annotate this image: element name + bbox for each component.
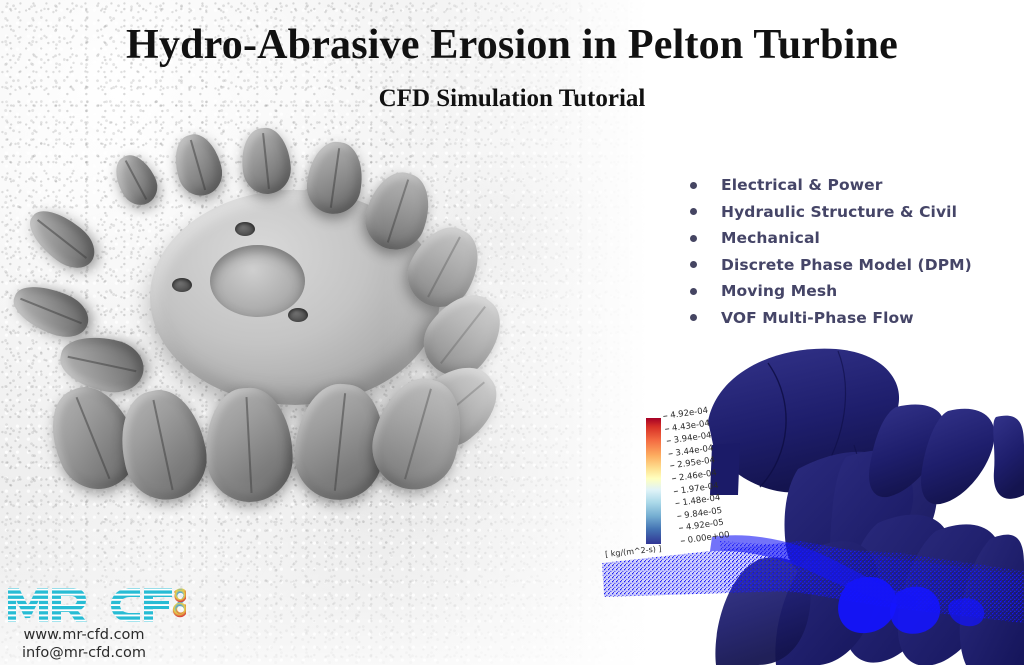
colorbar-tick-labels: 4.92e-04 4.43e-04 3.94e-04 3.44e-04 2.95… bbox=[663, 399, 789, 553]
bullet-dot-icon bbox=[690, 261, 697, 268]
page-title: Hydro-Abrasive Erosion in Pelton Turbine bbox=[0, 22, 1024, 68]
logo-d-glyph bbox=[174, 590, 186, 615]
list-item-label: Moving Mesh bbox=[721, 282, 837, 300]
list-item: Moving Mesh bbox=[690, 282, 972, 300]
list-item: Hydraulic Structure & Civil bbox=[690, 203, 972, 221]
erosion-rate-colorbar: 4.92e-04 4.43e-04 3.94e-04 3.44e-04 2.95… bbox=[643, 414, 773, 559]
cfd-render: 4.92e-04 4.43e-04 3.94e-04 3.44e-04 2.95… bbox=[600, 345, 1024, 665]
list-item-label: Hydraulic Structure & Civil bbox=[721, 203, 957, 221]
bullet-dot-icon bbox=[690, 314, 697, 321]
bullet-dot-icon bbox=[690, 208, 697, 215]
feature-list: Electrical & Power Hydraulic Structure &… bbox=[690, 176, 972, 335]
bullet-dot-icon bbox=[690, 235, 697, 242]
bullet-dot-icon bbox=[690, 182, 697, 189]
bullet-dot-icon bbox=[690, 288, 697, 295]
poster-canvas: 4.92e-04 4.43e-04 3.94e-04 3.44e-04 2.95… bbox=[0, 0, 1024, 665]
list-item: Electrical & Power bbox=[690, 176, 972, 194]
logo-email[interactable]: info@mr-cfd.com bbox=[10, 644, 158, 662]
logo-mark bbox=[6, 580, 186, 626]
list-item-label: Discrete Phase Model (DPM) bbox=[721, 256, 972, 274]
colorbar-tick-value: 0.00e+00 bbox=[687, 530, 730, 546]
logo-website[interactable]: www.mr-cfd.com bbox=[10, 626, 158, 644]
list-item: Mechanical bbox=[690, 229, 972, 247]
logo-svg bbox=[6, 580, 186, 626]
list-item-label: Electrical & Power bbox=[721, 176, 883, 194]
list-item: Discrete Phase Model (DPM) bbox=[690, 256, 972, 274]
list-item-label: VOF Multi-Phase Flow bbox=[721, 309, 914, 327]
page-subtitle: CFD Simulation Tutorial bbox=[0, 85, 1024, 113]
brand-logo[interactable]: www.mr-cfd.com info@mr-cfd.com bbox=[6, 580, 186, 662]
colorbar-gradient bbox=[646, 418, 661, 544]
list-item: VOF Multi-Phase Flow bbox=[690, 309, 972, 327]
list-item-label: Mechanical bbox=[721, 229, 820, 247]
